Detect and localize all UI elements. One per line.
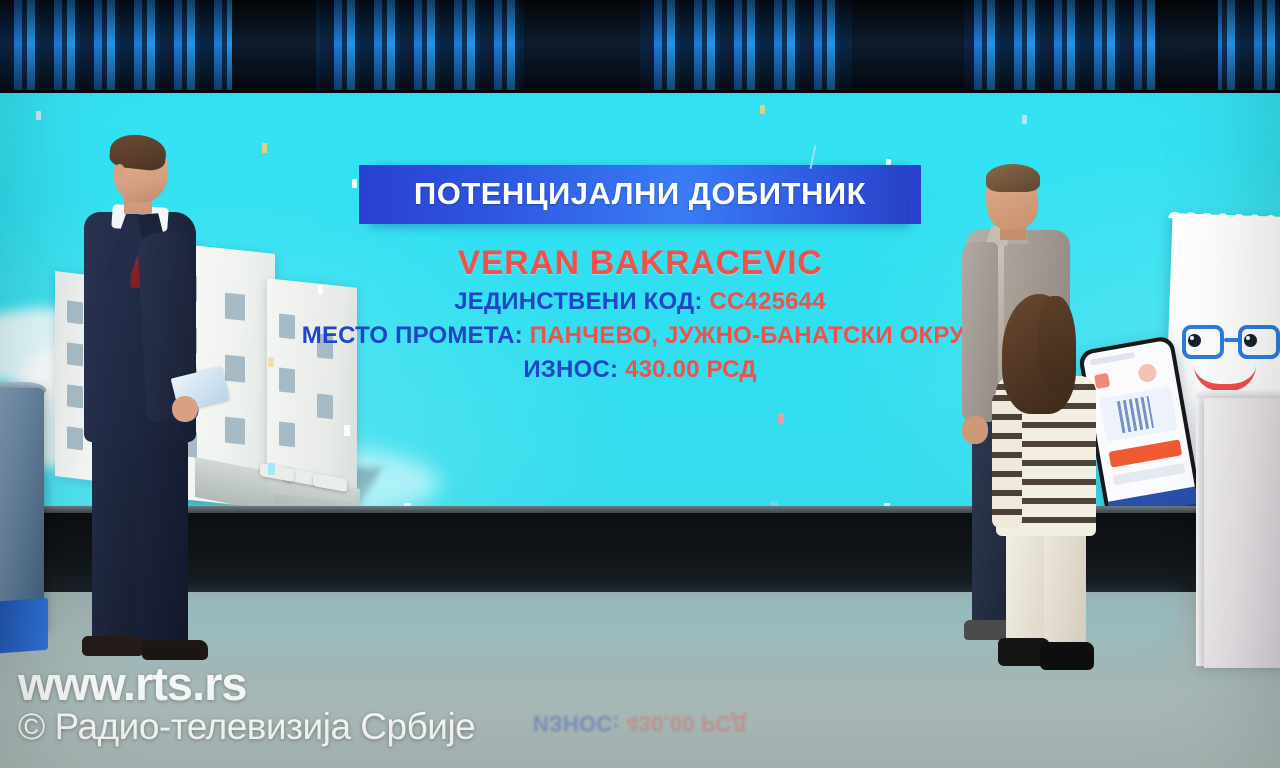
confetti-speck [262, 143, 267, 153]
reflected-field-label-amount: ИЗНОС: [533, 711, 620, 736]
confetti-speck [760, 105, 765, 114]
confetti-speck [1022, 115, 1027, 124]
potential-winner-banner: ПОТЕНЦИЈАЛНИ ДОБИТНИК [370, 165, 910, 224]
person-host [62, 140, 222, 660]
field-value-amount: 430.00 РСД [625, 356, 757, 383]
confetti-speck [344, 425, 350, 436]
qr-code-icon [1117, 396, 1154, 433]
tv-broadcast-frame: ПОТЕНЦИЈАЛНИ ДОБИТНИК VERAN BAKRACEVIC Ј… [0, 0, 1280, 768]
field-value-location: ПАНЧЕВО, ЈУЖНО-БАНАТСКИ ОКРУГ [530, 322, 979, 349]
app-primary-button [1109, 439, 1183, 467]
lectern-right [1204, 398, 1280, 668]
reflected-field-value-amount: 430.00 РСД [626, 711, 747, 736]
field-label-amount: ИЗНОС: [523, 356, 618, 383]
watermark-organization: © Радио-телевизија Србије [18, 706, 475, 748]
confetti-speck [36, 111, 41, 120]
watermark-url: www.rts.rs [18, 656, 247, 711]
podium-left [0, 388, 44, 634]
field-label-location: МЕСТО ПРОМЕТА: [302, 322, 523, 349]
podium-left-base [0, 598, 48, 654]
confetti-speck [268, 463, 275, 475]
banner-label: ПОТЕНЦИЈАЛНИ ДОБИТНИК [414, 177, 866, 211]
confetti-speck [778, 413, 784, 424]
studio-backdrop [0, 0, 1280, 96]
field-value-code: CC425644 [709, 288, 825, 315]
person-guest-child [992, 300, 1100, 668]
field-label-code: ЈЕДИНСТВЕНИ КОД: [454, 288, 702, 315]
